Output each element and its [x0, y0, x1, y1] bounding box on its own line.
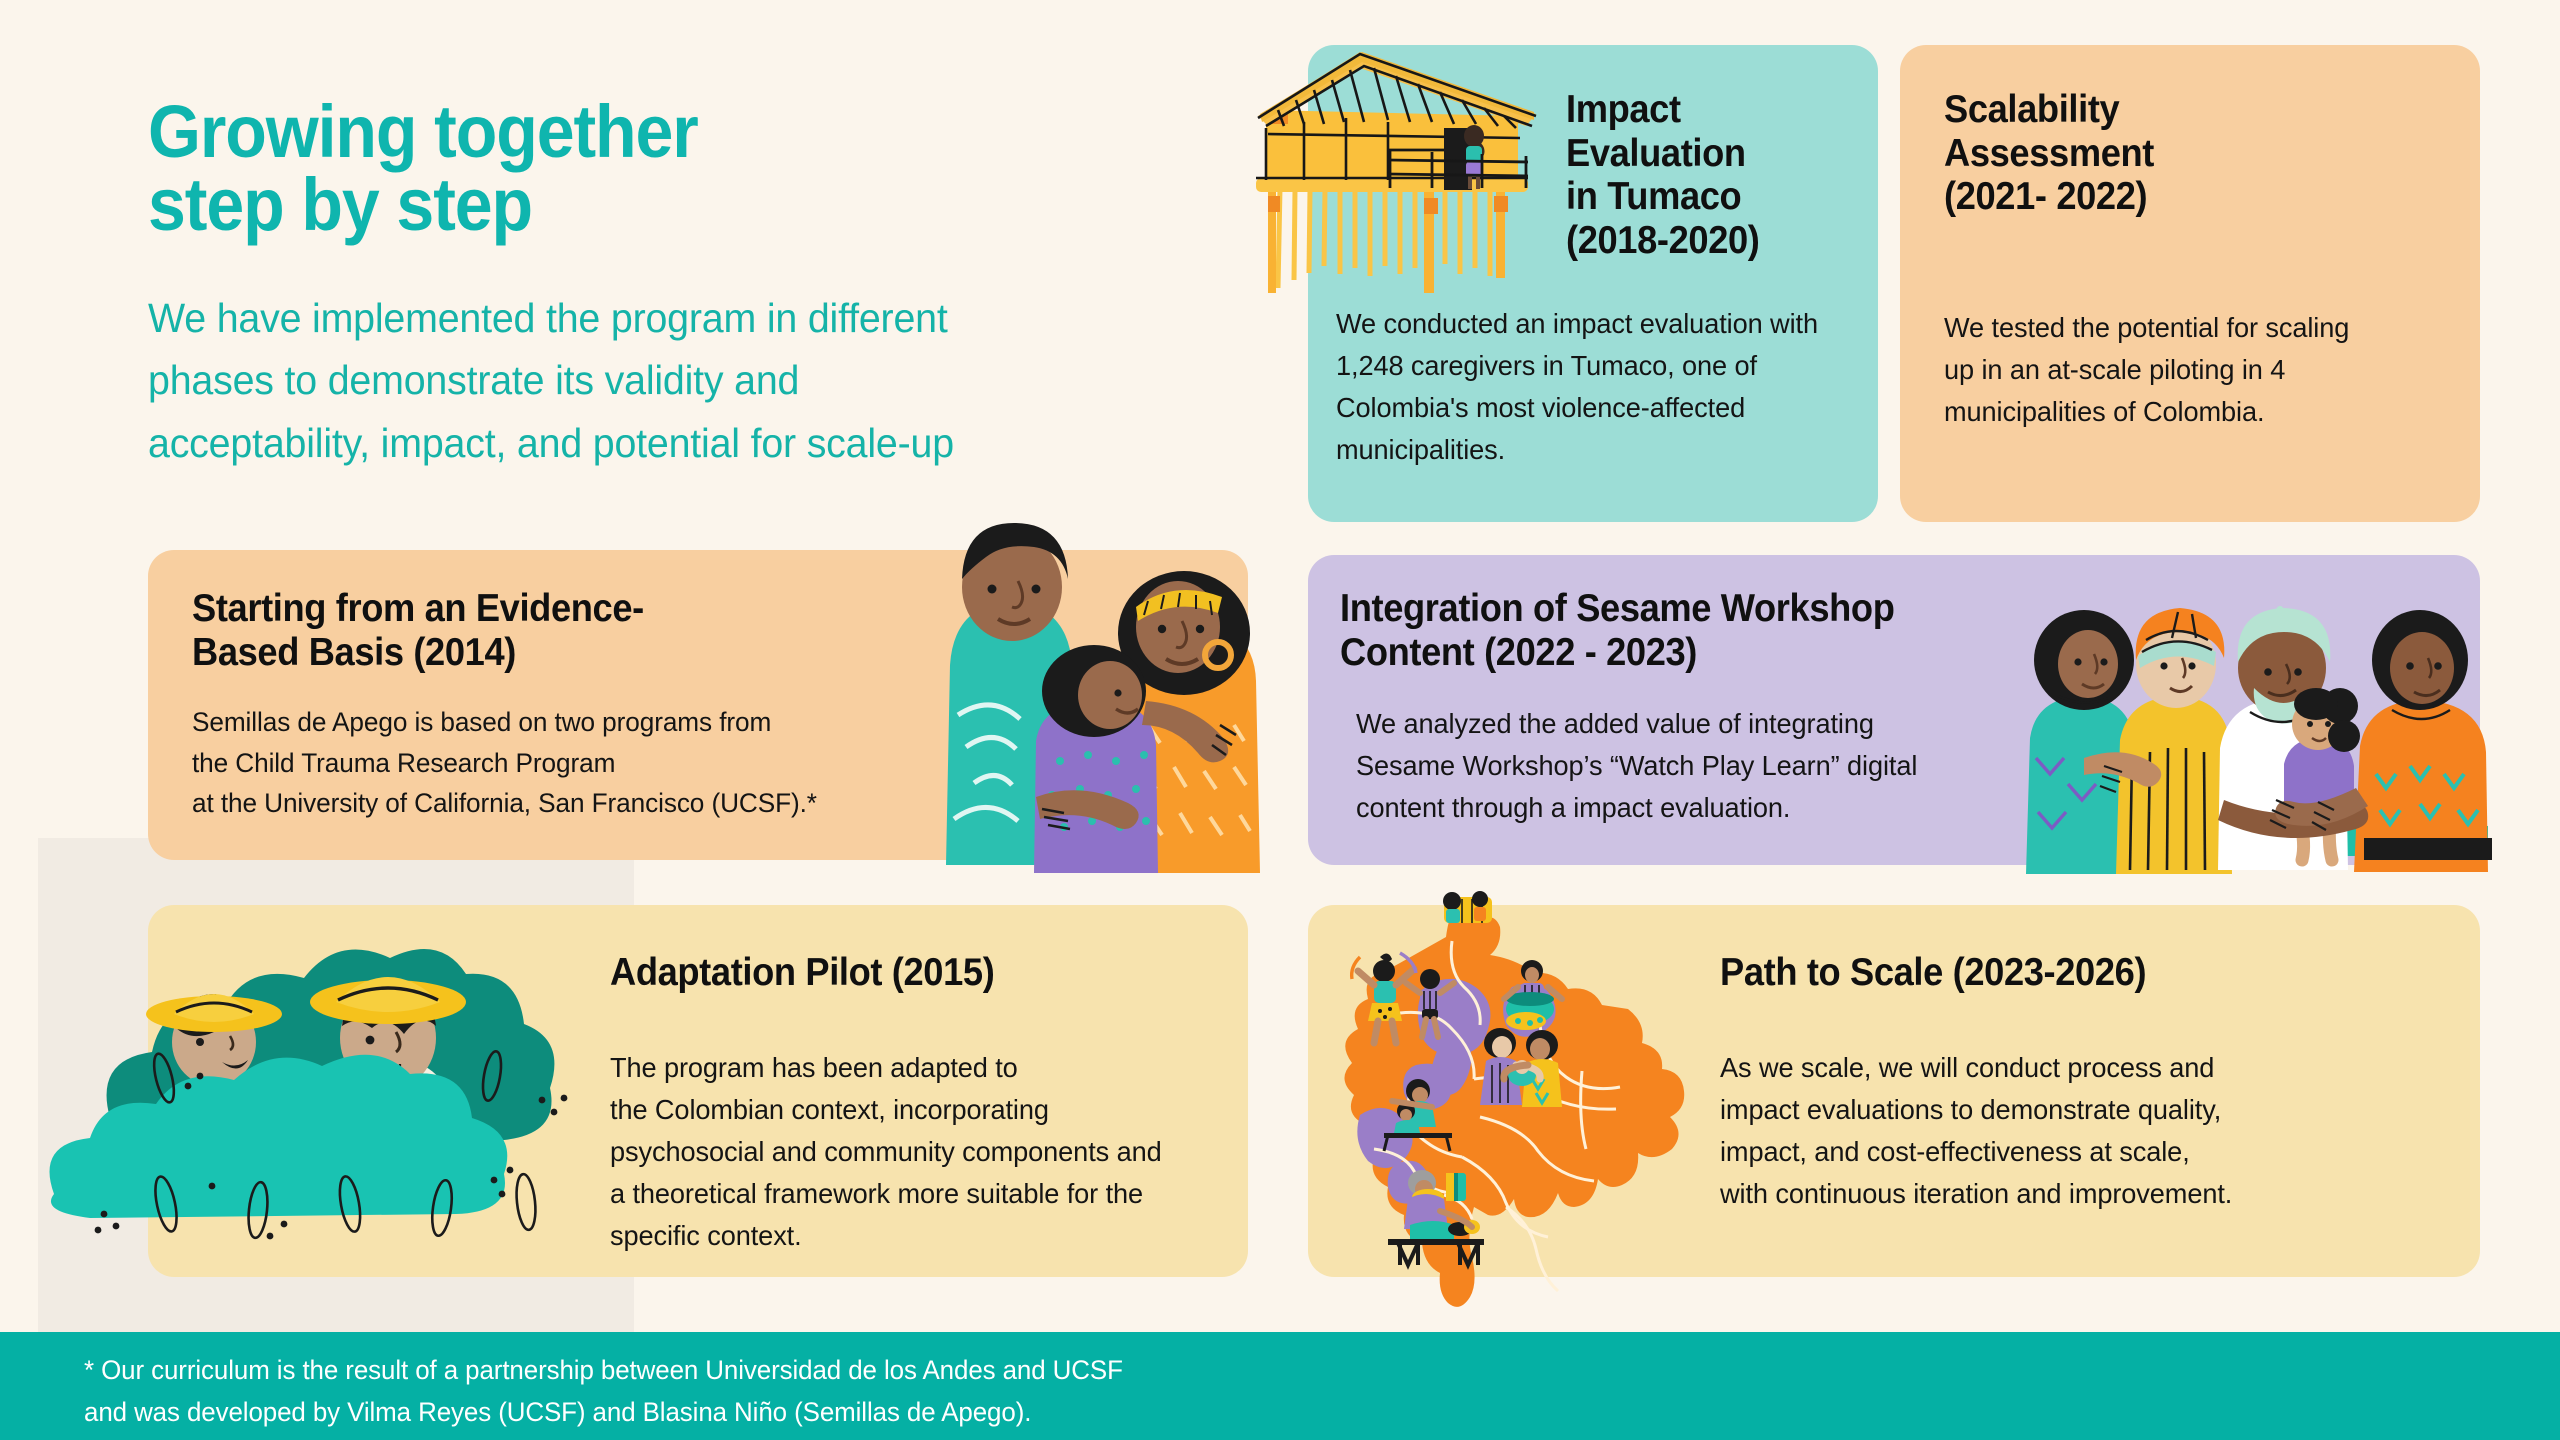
card-path-title: Path to Scale (2023-2026)	[1720, 951, 2315, 995]
card-adaptation-pilot: Adaptation Pilot (2015) The program has …	[148, 905, 1248, 1277]
card-impact-evaluation-title: Impact Evaluation in Tumaco (2018-2020)	[1566, 88, 1845, 263]
footer-bar: * Our curriculum is the result of a part…	[0, 1332, 2560, 1440]
card-path-to-scale: Path to Scale (2023-2026) As we scale, w…	[1308, 905, 2480, 1277]
page-title: Growing together step by step	[148, 96, 1142, 241]
page-subtitle-line-2: phases to demonstrate its validity and	[148, 349, 1185, 411]
card-adaptation-body: The program has been adapted to the Colo…	[610, 1047, 1221, 1257]
card-sesame-body-line-2: Sesame Workshop’s “Watch Play Learn” dig…	[1356, 745, 2035, 787]
card-sesame-body: We analyzed the added value of integrati…	[1356, 703, 2035, 829]
footer-note: * Our curriculum is the result of a part…	[84, 1350, 1123, 1434]
card-impact-title-line-2: Evaluation	[1566, 132, 1845, 176]
footer-note-line-1: * Our curriculum is the result of a part…	[84, 1350, 1123, 1392]
card-scalability-title-line-1: Scalability	[1944, 88, 2335, 132]
card-impact-evaluation: Impact Evaluation in Tumaco (2018-2020) …	[1308, 45, 1878, 522]
card-evidence-title-line-2: Based Basis (2014)	[192, 631, 806, 675]
card-impact-title-line-1: Impact	[1566, 88, 1845, 132]
card-evidence-body-line-2: the Child Trauma Research Program	[192, 743, 929, 784]
page-title-line-2: step by step	[148, 169, 1142, 242]
card-evidence-title: Starting from an Evidence- Based Basis (…	[192, 587, 806, 674]
page-subtitle-line-3: acceptability, impact, and potential for…	[148, 412, 1185, 474]
card-evidence-based-basis: Starting from an Evidence- Based Basis (…	[148, 550, 1248, 860]
card-scalability-title-line-3: (2021- 2022)	[1944, 175, 2335, 219]
card-path-body-line-3: impact, and cost-effectiveness at scale,	[1720, 1131, 2380, 1173]
card-sesame-title-line-2: Content (2022 - 2023)	[1340, 631, 2047, 675]
card-sesame-body-line-1: We analyzed the added value of integrati…	[1356, 703, 2035, 745]
page-title-line-1: Growing together	[148, 96, 1142, 169]
header-block: Growing together step by step We have im…	[148, 96, 1228, 474]
card-adaptation-body-line-1: The program has been adapted to	[610, 1047, 1221, 1089]
card-sesame-body-line-3: content through a impact evaluation.	[1356, 787, 2035, 829]
card-adaptation-body-line-2: the Colombian context, incorporating	[610, 1089, 1221, 1131]
footer-note-line-2: and was developed by Vilma Reyes (UCSF) …	[84, 1392, 1123, 1434]
card-scalability-title: Scalability Assessment (2021- 2022)	[1944, 88, 2335, 219]
card-scalability-body: We tested the potential for scaling up i…	[1944, 307, 2351, 433]
card-impact-evaluation-body: We conducted an impact evaluation with 1…	[1336, 303, 1840, 471]
card-path-body: As we scale, we will conduct process and…	[1720, 1047, 2380, 1215]
card-evidence-body: Semillas de Apego is based on two progra…	[192, 702, 929, 824]
card-path-body-line-2: impact evaluations to demonstrate qualit…	[1720, 1089, 2380, 1131]
card-sesame-title: Integration of Sesame Workshop Content (…	[1340, 587, 2047, 674]
card-evidence-title-line-1: Starting from an Evidence-	[192, 587, 806, 631]
card-path-body-line-4: with continuous iteration and improvemen…	[1720, 1173, 2380, 1215]
card-impact-title-line-4: (2018-2020)	[1566, 219, 1845, 263]
card-impact-title-line-3: in Tumaco	[1566, 175, 1845, 219]
infographic-canvas: Growing together step by step We have im…	[0, 0, 2560, 1440]
card-scalability-assessment: Scalability Assessment (2021- 2022) We t…	[1900, 45, 2480, 522]
card-sesame-workshop-integration: Integration of Sesame Workshop Content (…	[1308, 555, 2480, 865]
card-scalability-title-line-2: Assessment	[1944, 132, 2335, 176]
card-sesame-title-line-1: Integration of Sesame Workshop	[1340, 587, 2047, 631]
page-subtitle: We have implemented the program in diffe…	[148, 287, 1185, 474]
card-adaptation-body-line-4: a theoretical framework more suitable fo…	[610, 1173, 1221, 1215]
card-adaptation-body-line-5: specific context.	[610, 1215, 1221, 1257]
card-evidence-body-line-3: at the University of California, San Fra…	[192, 783, 929, 824]
card-adaptation-title: Adaptation Pilot (2015)	[610, 951, 1187, 995]
card-evidence-body-line-1: Semillas de Apego is based on two progra…	[192, 702, 929, 743]
card-path-body-line-1: As we scale, we will conduct process and	[1720, 1047, 2380, 1089]
card-adaptation-body-line-3: psychosocial and community components an…	[610, 1131, 1221, 1173]
page-subtitle-line-1: We have implemented the program in diffe…	[148, 287, 1185, 349]
